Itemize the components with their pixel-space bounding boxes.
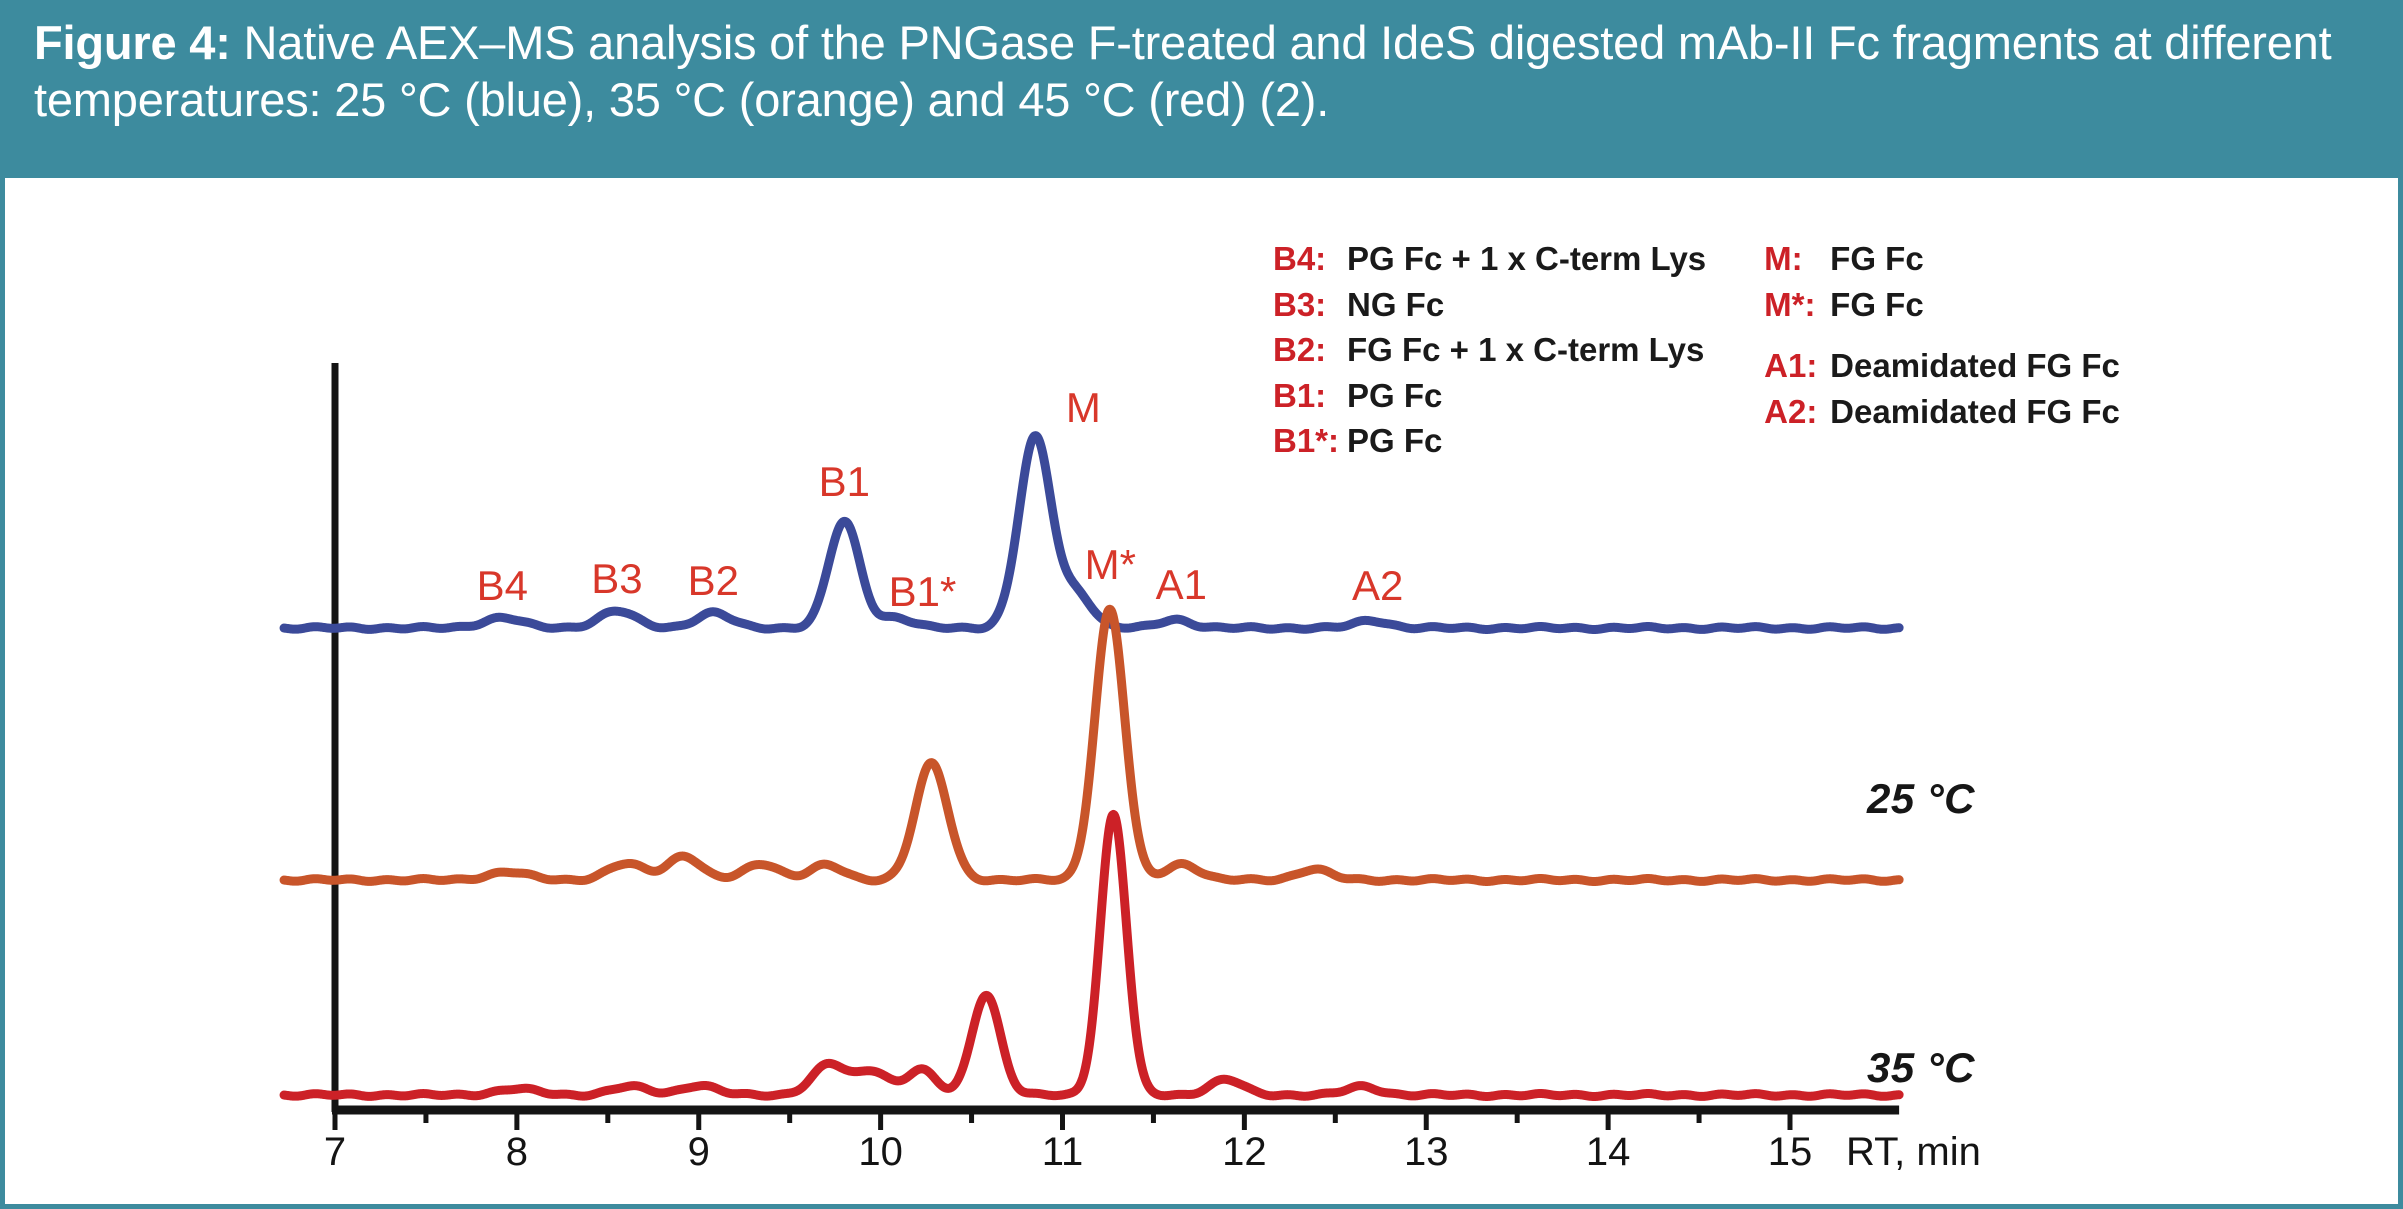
figure-caption-text: Figure 4: Native AEX–MS analysis of the … [34,14,2369,129]
x-tick-label-11: 11 [1042,1130,1084,1175]
peak-label-b1-star: B1* [889,568,957,616]
peak-label-m: M [1066,384,1101,432]
x-tick-label-10: 10 [858,1130,903,1175]
legend-row-b1-star: B1*: PG Fc [1273,418,1706,464]
figure-caption-body: Native AEX–MS analysis of the PNGase F-t… [34,16,2344,126]
legend-column-left: B4: PG Fc + 1 x C-term Lys B3: NG Fc B2:… [1273,236,1706,464]
legend-key-b2: B2: [1273,327,1347,373]
figure-root: Figure 4: Native AEX–MS analysis of the … [0,0,2403,1209]
peak-label-b2: B2 [688,557,739,605]
x-tick-label-13: 13 [1404,1130,1449,1175]
legend-key-m: M: [1764,236,1830,282]
legend-key-b3: B3: [1273,282,1347,328]
x-tick-label-7: 7 [324,1130,346,1175]
legend-row-a1: A1: Deamidated FG Fc [1764,343,2120,389]
legend-row-a2: A2: Deamidated FG Fc [1764,389,2120,435]
peak-label-m-star: M* [1085,541,1136,589]
legend-desc-a1: Deamidated FG Fc [1830,343,2120,389]
legend-desc-a2: Deamidated FG Fc [1830,389,2120,435]
figure-caption-bar: Figure 4: Native AEX–MS analysis of the … [0,0,2403,178]
peak-label-b4: B4 [477,562,528,610]
legend-key-a2: A2: [1764,389,1830,435]
legend-desc-b1-star: PG Fc [1347,418,1442,464]
legend-row-m-star: M*: FG Fc [1764,282,2120,328]
legend-row-b1: B1: PG Fc [1273,373,1706,419]
x-tick-label-12: 12 [1222,1130,1267,1175]
x-tick-label-8: 8 [506,1130,528,1175]
chromatogram-plot-area: B4: PG Fc + 1 x C-term Lys B3: NG Fc B2:… [5,178,2403,1204]
x-tick-label-14: 14 [1586,1130,1631,1175]
legend-desc-b2: FG Fc + 1 x C-term Lys [1347,327,1704,373]
legend-row-m: M: FG Fc [1764,236,2120,282]
x-tick-label-9: 9 [688,1130,710,1175]
x-tick-label-15: 15 [1768,1130,1813,1175]
figure-number-label: Figure 4: [34,16,231,69]
trace-group [284,436,1899,1097]
legend-key-b4: B4: [1273,236,1347,282]
peak-label-b3: B3 [591,555,642,603]
legend-desc-b4: PG Fc + 1 x C-term Lys [1347,236,1706,282]
chromatogram-trace-45c [284,814,1899,1096]
peak-label-b1: B1 [819,458,870,506]
legend-desc-m-star: FG Fc [1830,282,1924,328]
legend-row-b2: B2: FG Fc + 1 x C-term Lys [1273,327,1706,373]
legend-row-b3: B3: NG Fc [1273,282,1706,328]
chart-panel: B4: PG Fc + 1 x C-term Lys B3: NG Fc B2:… [0,178,2403,1209]
series-label-25c: 25 °C [1867,775,1975,823]
legend-desc-m: FG Fc [1830,236,1924,282]
legend-key-b1: B1: [1273,373,1347,419]
peak-label-a2: A2 [1352,562,1403,610]
peak-assignment-legend: B4: PG Fc + 1 x C-term Lys B3: NG Fc B2:… [1273,236,2120,464]
legend-column-right: M: FG Fc M*: FG Fc A1: Deamidated FG Fc … [1764,236,2120,434]
series-label-35c: 35 °C [1867,1044,1975,1092]
legend-key-a1: A1: [1764,343,1830,389]
chromatogram-trace-35c [284,609,1899,881]
peak-label-a1: A1 [1156,561,1207,609]
legend-desc-b1: PG Fc [1347,373,1442,419]
legend-row-b4: B4: PG Fc + 1 x C-term Lys [1273,236,1706,282]
legend-key-b1-star: B1*: [1273,418,1347,464]
legend-key-m-star: M*: [1764,282,1830,328]
legend-desc-b3: NG Fc [1347,282,1444,328]
axis-title-rt: RT, min [1846,1130,1981,1175]
axis-group [332,363,1899,1130]
